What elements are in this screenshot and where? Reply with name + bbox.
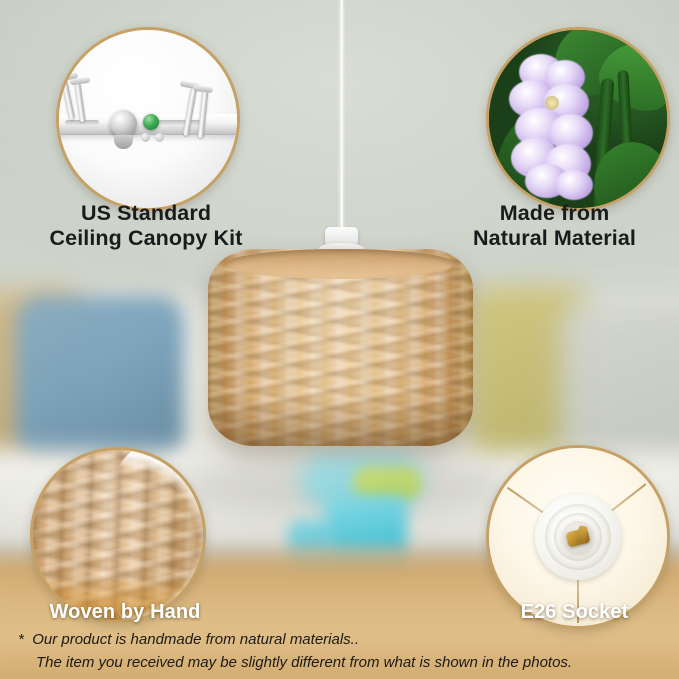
canopy-slot-right xyxy=(157,120,203,125)
label-line-1: US Standard xyxy=(0,201,292,226)
ceiling-canopy-kit-icon xyxy=(56,27,240,211)
disclaimer: * Our product is handmade from natural m… xyxy=(18,628,678,675)
product-infographic: US Standard Ceiling Canopy Kit Made from… xyxy=(0,0,679,679)
label-line-1: Made from xyxy=(430,201,679,226)
label-ceiling-canopy-kit: US Standard Ceiling Canopy Kit xyxy=(0,201,292,252)
woven-weave-closeup-icon xyxy=(30,447,206,623)
pendant-cord xyxy=(340,0,343,232)
label-line-2: Ceiling Canopy Kit xyxy=(0,226,292,251)
label-natural-material: Made from Natural Material xyxy=(430,201,679,252)
label-line-2: Natural Material xyxy=(430,226,679,251)
disclaimer-line-1: * Our product is handmade from natural m… xyxy=(18,628,678,651)
canopy-ground-screw xyxy=(143,114,159,130)
foliage-accent xyxy=(352,466,422,500)
disclaimer-marker: * xyxy=(18,631,24,648)
water-hyacinth-flower-icon xyxy=(486,27,670,211)
canopy-screw-head-1 xyxy=(141,133,150,142)
disclaimer-text-1: Our product is handmade from natural mat… xyxy=(32,631,359,648)
pillow-blue xyxy=(16,296,184,461)
canopy-screw-head-2 xyxy=(155,133,164,142)
disclaimer-line-2: The item you received may be slightly di… xyxy=(18,651,678,674)
hyacinth-bloom xyxy=(505,52,601,198)
shade-top-rim xyxy=(226,249,455,279)
canopy-center-boss xyxy=(110,110,137,137)
label-e26-socket: E26 Socket xyxy=(470,601,679,625)
petal xyxy=(555,170,593,200)
bloom-center xyxy=(545,96,559,110)
label-woven-by-hand: Woven by Hand xyxy=(20,601,230,625)
